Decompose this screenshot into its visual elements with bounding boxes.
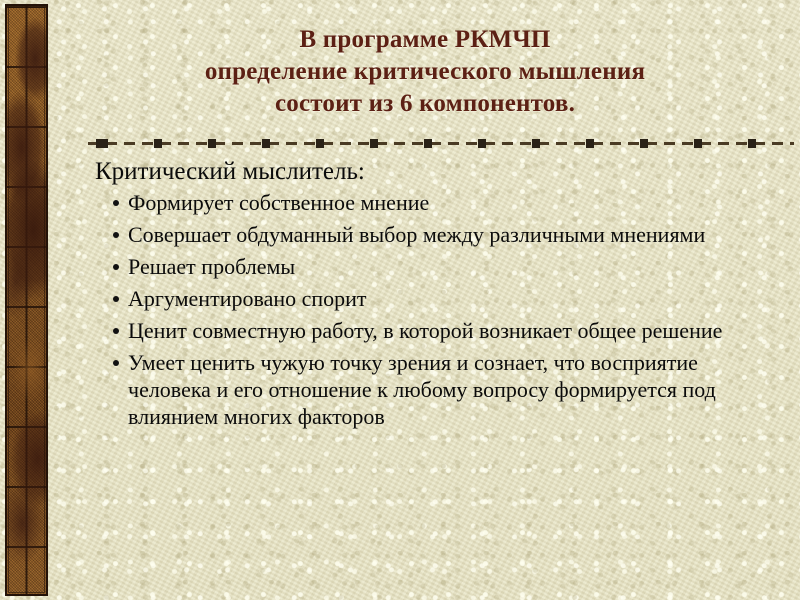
list-item: Формирует собственное мнение (95, 189, 760, 216)
list-item: Умеет ценить чужую точку зрения и сознае… (95, 349, 760, 430)
slide-title-line-3: состоит из 6 компонентов. (95, 88, 755, 120)
title-divider (88, 139, 794, 148)
slide-body: Критический мыслитель: Формирует собстве… (95, 156, 760, 435)
slide-title-line-2: определение критического мышления (95, 56, 755, 88)
decorative-left-border (5, 4, 48, 596)
list-item: Ценит совместную работу, в которой возни… (95, 317, 760, 344)
presentation-slide: В программе РКМЧП определение критическо… (0, 0, 800, 600)
list-item: Аргументировано спорит (95, 285, 760, 312)
divider-squares (88, 139, 794, 148)
bullet-list: Формирует собственное мнение Совершает о… (95, 189, 760, 430)
slide-title: В программе РКМЧП определение критическо… (95, 24, 755, 120)
body-lead-text: Критический мыслитель: (95, 156, 760, 187)
slide-title-line-1: В программе РКМЧП (95, 24, 755, 56)
list-item: Решает проблемы (95, 253, 760, 280)
list-item: Совершает обдуманный выбор между различн… (95, 221, 760, 248)
